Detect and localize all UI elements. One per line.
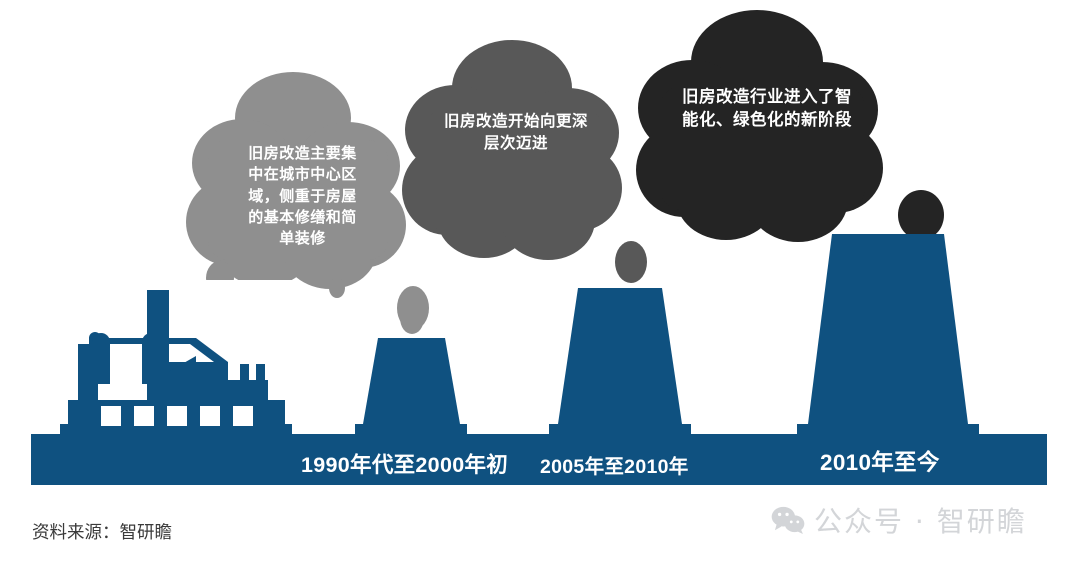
cooling-tower-stage-2 [538, 288, 702, 446]
cooling-tower-stage-3 [784, 234, 992, 446]
source-note: 资料来源：智研瞻 [32, 519, 172, 544]
smoke-puff-icon [397, 286, 429, 330]
stage-3-description: 旧房改造行业进入了智 能化、绿色化的新阶段 [651, 86, 883, 133]
smoke-puff-icon [615, 241, 647, 283]
stage-1-description: 旧房改造主要集 中在城市中心区 域，侧重于房屋 的基本修缮和简 单装修 [215, 143, 390, 249]
infographic-canvas: 旧房改造主要集 中在城市中心区 域，侧重于房屋 的基本修缮和简 单装修 旧房改造… [0, 0, 1080, 562]
cooling-tower-stage-1 [344, 286, 478, 446]
wechat-icon [771, 506, 805, 534]
stage-2-description: 旧房改造开始向更深 层次迈进 [425, 111, 607, 155]
smoke-puff-icon [329, 278, 345, 298]
era-label-2010-present: 2010年至今 [820, 445, 940, 477]
era-label-1990s-2000s: 1990年代至2000年初 [301, 448, 508, 479]
era-label-2005-2010: 2005年至2010年 [540, 450, 689, 479]
smoke-puff-icon [898, 190, 944, 240]
watermark-text: 公众号 · 智研瞻 [814, 500, 1027, 540]
watermark: 公众号 · 智研瞻 [771, 500, 1027, 540]
